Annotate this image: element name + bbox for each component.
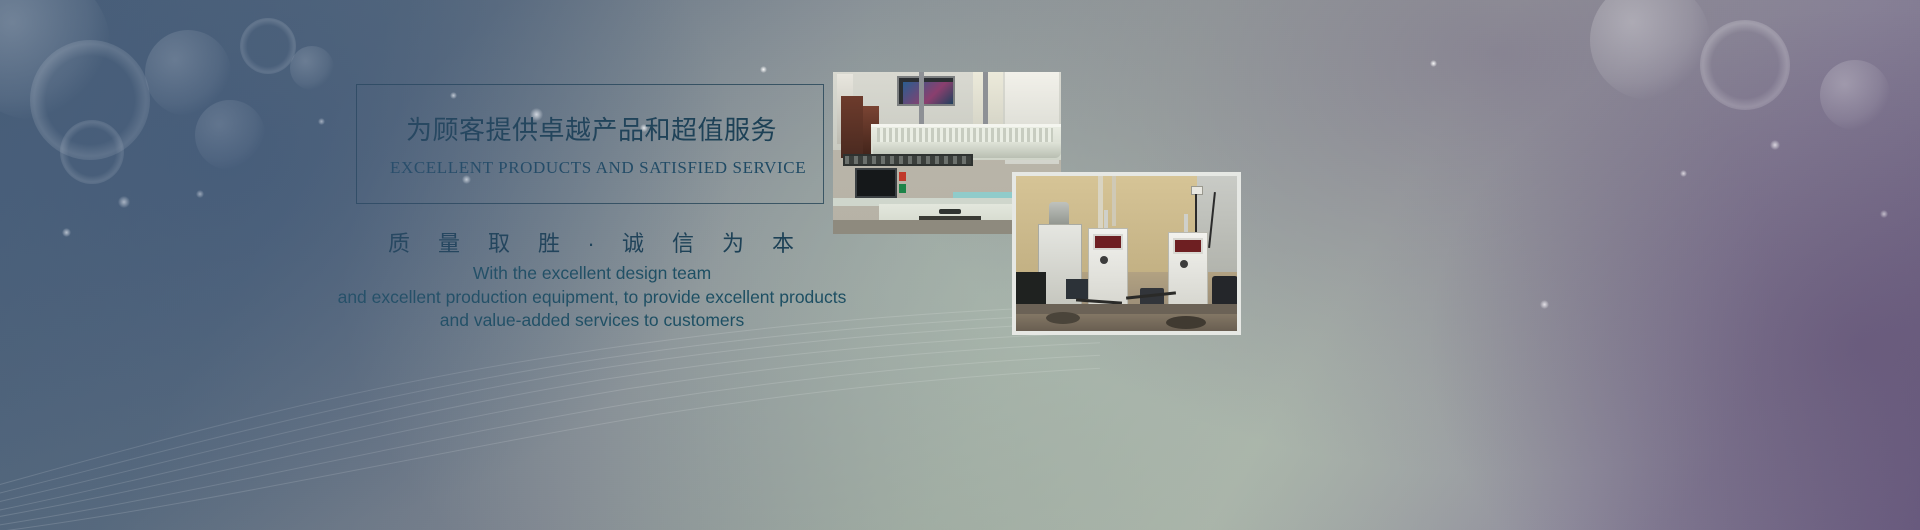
bokeh-circle	[145, 30, 231, 116]
slogan-char: 信	[658, 226, 708, 258]
headline-chinese: 为顾客提供卓越产品和超值服务	[406, 110, 826, 147]
body-paragraph-english: With the excellent design team and excel…	[300, 262, 884, 333]
body-line: With the excellent design team	[300, 262, 884, 286]
subtitle-english: EXCELLENT PRODUCTS AND SATISFIED SERVICE	[390, 158, 790, 178]
bokeh-dot	[1880, 210, 1888, 218]
slogan-char: 取	[474, 226, 524, 258]
bokeh-dot	[1680, 170, 1687, 177]
bokeh-circle	[290, 46, 334, 90]
slogan-char: 质	[374, 226, 424, 258]
bokeh-circle	[1700, 20, 1790, 110]
slogan-chinese: 质量取胜·诚信为本	[356, 226, 826, 258]
slogan-char: 为	[708, 226, 758, 258]
banner-stage: 为顾客提供卓越产品和超值服务 EXCELLENT PRODUCTS AND SA…	[0, 0, 1920, 530]
body-line: and value-added services to customers	[300, 309, 884, 333]
bokeh-dot	[1770, 140, 1780, 150]
bokeh-dot	[62, 228, 71, 237]
bokeh-dot	[196, 190, 204, 198]
bokeh-circle	[60, 120, 124, 184]
photo-content	[1016, 176, 1237, 331]
slogan-char: 诚	[608, 226, 658, 258]
test-bench-equipment-photo	[1012, 172, 1241, 335]
slogan-char: 胜	[524, 226, 574, 258]
bokeh-dot	[118, 196, 130, 208]
slogan-separator-dot: ·	[574, 231, 608, 257]
bokeh-circle	[1820, 60, 1890, 130]
slogan-char: 本	[758, 226, 808, 258]
bokeh-circle	[240, 18, 296, 74]
slogan-char: 量	[424, 226, 474, 258]
body-line: and excellent production equipment, to p…	[300, 286, 884, 310]
bokeh-circle	[1590, 0, 1710, 100]
bokeh-dot	[1540, 300, 1549, 309]
bokeh-dot	[760, 66, 767, 73]
bokeh-circle	[195, 100, 265, 170]
bokeh-dot	[318, 118, 325, 125]
bokeh-circle	[0, 0, 110, 120]
bokeh-dot	[1430, 60, 1437, 67]
bokeh-circle	[30, 40, 150, 160]
